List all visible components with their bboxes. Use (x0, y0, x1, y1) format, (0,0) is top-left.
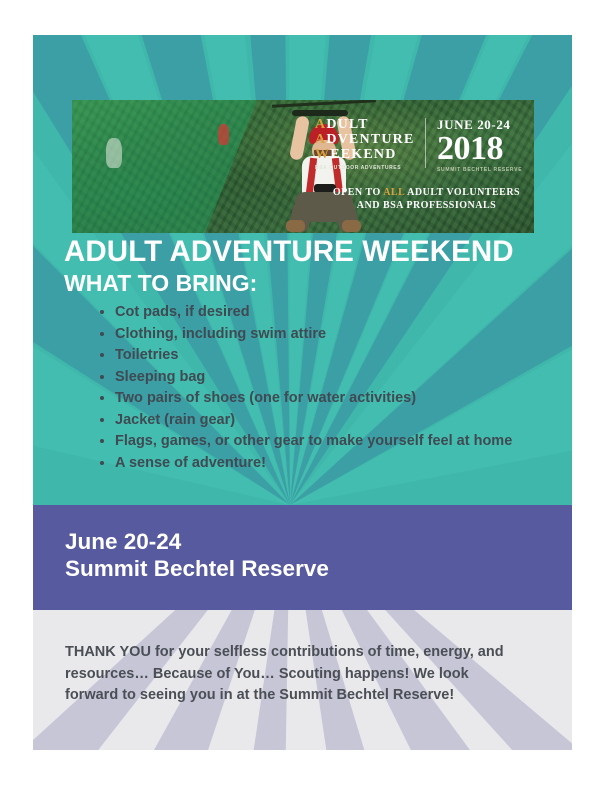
list-item: Cot pads, if desired (115, 302, 545, 324)
banner-logo-line-2: ADVENTURE (315, 132, 419, 147)
thank-you-message: THANK YOU for your selfless contribution… (65, 642, 523, 707)
flyer-page: ADULT ADVENTURE WEEKEND BSA OUTDOOR ADVE… (33, 35, 572, 750)
banner-logo-lockup: ADULT ADVENTURE WEEKEND BSA OUTDOOR ADVE… (315, 117, 419, 171)
list-item: Jacket (rain gear) (115, 410, 545, 432)
banner-venue: SUMMIT BECHTEL RESERVE (437, 167, 529, 173)
page-title: ADULT ADVENTURE WEEKEND (64, 235, 569, 269)
banner-year: 2018 (437, 133, 529, 165)
banner-logo-subtitle: BSA OUTDOOR ADVENTURES (315, 165, 419, 171)
banner-open-to-text: OPEN TO ALL ADULT VOLUNTEERS AND BSA PRO… (319, 186, 534, 212)
footer-section: THANK YOU for your selfless contribution… (33, 610, 572, 750)
what-to-bring-list: Cot pads, if desired Clothing, including… (85, 302, 545, 474)
list-item: Two pairs of shoes (one for water activi… (115, 388, 545, 410)
list-item: Toiletries (115, 345, 545, 367)
event-details-band: June 20-24 Summit Bechtel Reserve (33, 505, 572, 610)
page-subtitle: WHAT TO BRING: (64, 270, 569, 297)
banner-logo-line-3: WEEKEND (315, 147, 419, 162)
banner-date-lockup: JUNE 20-24 2018 SUMMIT BECHTEL RESERVE (437, 117, 529, 173)
list-item: Sleeping bag (115, 367, 545, 389)
list-item: Flags, games, or other gear to make your… (115, 431, 545, 453)
list-item: A sense of adventure! (115, 453, 545, 475)
event-banner-image: ADULT ADVENTURE WEEKEND BSA OUTDOOR ADVE… (72, 100, 534, 233)
event-dates: June 20-24 (65, 528, 181, 556)
banner-divider (425, 118, 426, 168)
event-location: Summit Bechtel Reserve (65, 555, 329, 583)
distant-zipliner-red-icon (218, 124, 229, 145)
banner-logo-line-1: ADULT (315, 117, 419, 132)
list-item: Clothing, including swim attire (115, 324, 545, 346)
headings-block: ADULT ADVENTURE WEEKEND WHAT TO BRING: (64, 235, 569, 297)
distant-zipliner-icon (106, 138, 122, 168)
